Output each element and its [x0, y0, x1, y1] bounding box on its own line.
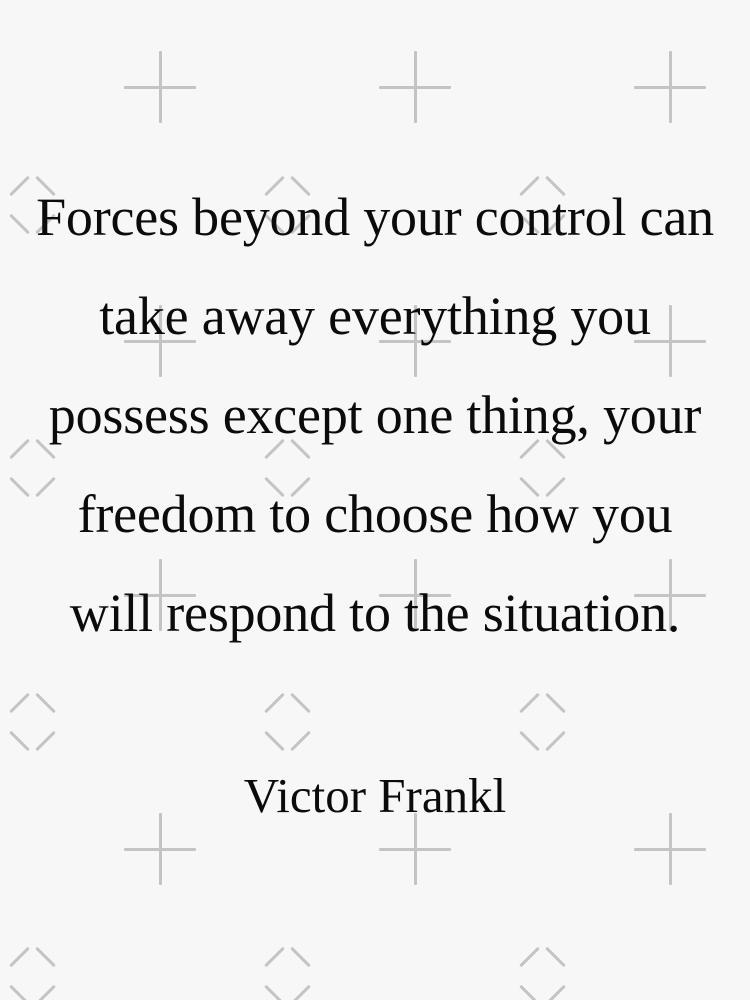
plus-tick-icon [634, 813, 706, 885]
plus-tick-icon [634, 559, 706, 631]
quote-line: Forces beyond your control can [0, 168, 750, 267]
x-cross-icon [0, 690, 64, 754]
plus-tick-icon [634, 305, 706, 377]
quote-line: possess except one thing, your [0, 366, 750, 465]
x-cross-icon [0, 173, 64, 237]
x-cross-icon [255, 173, 319, 237]
plus-tick-icon [124, 305, 196, 377]
plus-tick-icon [124, 51, 196, 123]
quote-poster: Forces beyond your control can take away… [0, 0, 750, 1000]
quote-line: will respond to the situation. [0, 564, 750, 663]
x-cross-icon [0, 944, 64, 1000]
plus-tick-icon [379, 305, 451, 377]
plus-tick-icon [379, 559, 451, 631]
quote-line: take away everything you [0, 267, 750, 366]
x-cross-icon [510, 173, 574, 237]
poster-content: Forces beyond your control can take away… [0, 0, 750, 1000]
plus-tick-icon [379, 51, 451, 123]
plus-tick-icon [634, 51, 706, 123]
quote-line: freedom to choose how you [0, 465, 750, 564]
x-cross-icon [510, 690, 574, 754]
watermark-pattern-layer [0, 0, 750, 1000]
plus-tick-icon [379, 813, 451, 885]
plus-tick-icon [124, 813, 196, 885]
x-cross-icon [0, 436, 64, 500]
x-cross-icon [510, 436, 574, 500]
x-cross-icon [255, 690, 319, 754]
plus-tick-icon [124, 559, 196, 631]
x-cross-icon [510, 944, 574, 1000]
x-cross-icon [255, 436, 319, 500]
quote-text: Forces beyond your control can take away… [0, 168, 750, 663]
x-cross-icon [255, 944, 319, 1000]
quote-attribution: Victor Frankl [0, 768, 750, 824]
